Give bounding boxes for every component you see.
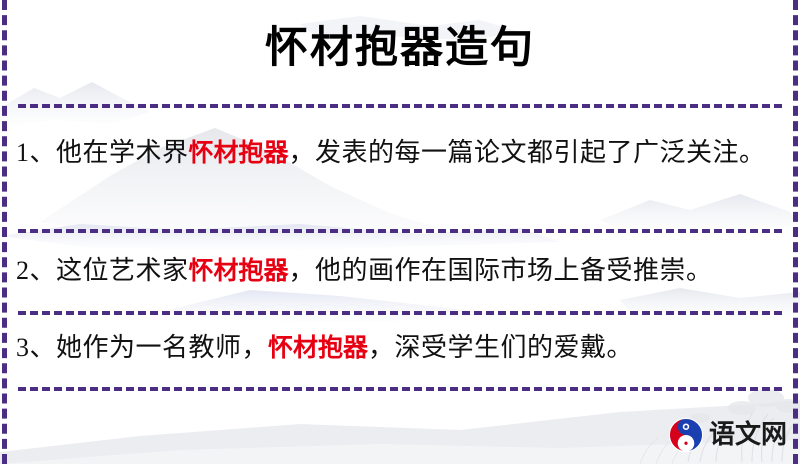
sentence-before: 她作为一名教师，	[56, 333, 268, 362]
highlighted-idiom: 怀材抱器	[189, 138, 289, 167]
sentence-index: 1、	[16, 138, 56, 167]
title-container: 怀材抱器造句	[0, 22, 800, 76]
separator-above-sentence-1	[18, 104, 782, 108]
poster-page: 怀材抱器造句 1、他在学术界怀材抱器，发表的每一篇论文都引起了广泛关注。 2、这…	[0, 0, 800, 464]
sentence-before: 这位艺术家	[56, 256, 189, 285]
sentence-item: 1、他在学术界怀材抱器，发表的每一篇论文都引起了广泛关注。	[16, 132, 784, 174]
site-logo[interactable]: 语文网	[668, 414, 786, 456]
separator-below-sentence-2	[18, 311, 782, 315]
sentence-index: 3、	[16, 333, 56, 362]
sentence-item: 3、她作为一名教师，怀材抱器，深受学生们的爱戴。	[16, 327, 784, 369]
sentence-before: 他在学术界	[56, 138, 189, 167]
left-dashed-border	[2, 0, 7, 464]
highlighted-idiom: 怀材抱器	[189, 256, 289, 285]
highlighted-idiom: 怀材抱器	[268, 333, 368, 362]
sentence-after: ，深受学生们的爱戴。	[368, 333, 633, 362]
sentence-after: ，他的画作在国际市场上备受推崇。	[289, 256, 713, 285]
yin-yang-circle-icon	[668, 417, 704, 453]
sentence-after: ，发表的每一篇论文都引起了广泛关注。	[289, 138, 766, 167]
site-logo-text: 语文网	[709, 422, 787, 448]
sentence-item: 2、这位艺术家怀材抱器，他的画作在国际市场上备受推崇。	[16, 250, 784, 292]
separator-below-sentence-3	[18, 387, 782, 391]
page-title: 怀材抱器造句	[265, 22, 535, 76]
sentence-index: 2、	[16, 256, 56, 285]
right-dashed-border	[793, 0, 798, 464]
separator-below-sentence-1	[18, 229, 782, 233]
